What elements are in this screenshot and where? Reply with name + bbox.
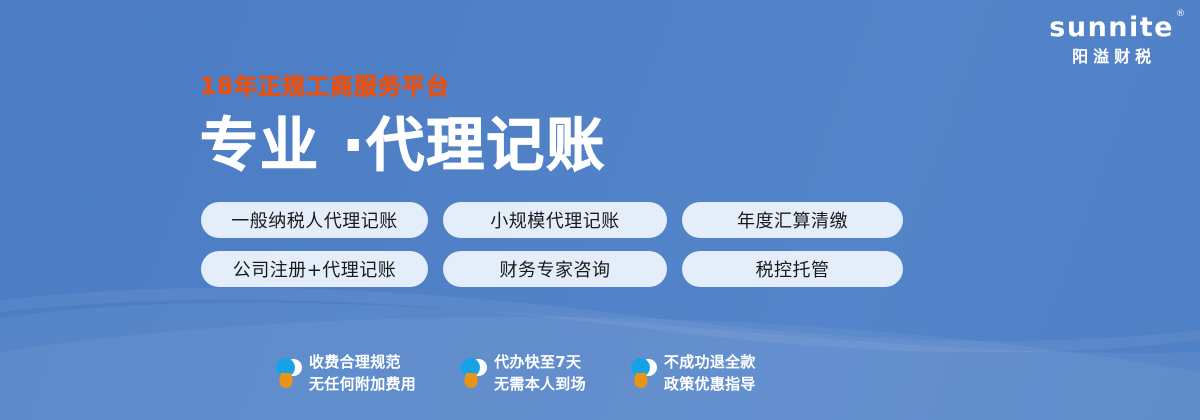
headline-block: 18年正规工商服务平台 专业 ·代理记账 [200, 76, 606, 176]
logo-wordmark-text: sunnite [1049, 12, 1174, 43]
eyebrow-text: 18年正规工商服务平台 [200, 76, 606, 99]
service-tag[interactable]: 年度汇算清缴 [682, 202, 903, 238]
feature-text: 收费合理规范 无任何附加费用 [309, 352, 416, 396]
coin-drop-icon-base [634, 373, 648, 388]
feature-line-secondary: 政策优惠指导 [664, 374, 756, 396]
feature-item: 代办快至7天 无需本人到场 [460, 352, 586, 396]
service-tag[interactable]: 公司注册+代理记账 [201, 251, 428, 287]
feature-item: 不成功退全款 政策优惠指导 [630, 352, 756, 396]
feature-item: 收费合理规范 无任何附加费用 [275, 352, 416, 396]
service-tag[interactable]: 税控托管 [682, 251, 903, 287]
feature-highlight-list: 收费合理规范 无任何附加费用 代办快至7天 无需本人到场 不成功退全款 [275, 352, 756, 396]
feature-line-secondary: 无任何附加费用 [309, 374, 416, 396]
brand-logo: sunnite ® 阳溢财税 [1049, 14, 1174, 65]
feature-text: 代办快至7天 无需本人到场 [494, 352, 586, 396]
service-tag-list: 一般纳税人代理记账 小规模代理记账 年度汇算清缴 公司注册+代理记账 财务专家咨… [201, 202, 903, 287]
registered-trademark-icon: ® [1176, 10, 1185, 19]
coin-drop-icon [275, 357, 301, 391]
promo-banner: sunnite ® 阳溢财税 18年正规工商服务平台 专业 ·代理记账 一般纳税… [0, 0, 1200, 420]
service-tag[interactable]: 小规模代理记账 [443, 202, 667, 238]
logo-wordmark: sunnite ® [1049, 14, 1174, 41]
coin-drop-icon-base [279, 373, 293, 388]
feature-line-primary: 收费合理规范 [309, 352, 416, 374]
service-tag[interactable]: 一般纳税人代理记账 [201, 202, 428, 238]
coin-drop-icon [630, 357, 656, 391]
feature-text: 不成功退全款 政策优惠指导 [664, 352, 756, 396]
page-title: 专业 ·代理记账 [200, 115, 606, 176]
feature-line-primary: 代办快至7天 [494, 352, 586, 374]
coin-drop-icon-base [464, 373, 478, 388]
service-tag[interactable]: 财务专家咨询 [443, 251, 667, 287]
feature-line-secondary: 无需本人到场 [494, 374, 586, 396]
logo-chinese-name: 阳溢财税 [1049, 49, 1174, 65]
feature-line-primary: 不成功退全款 [664, 352, 756, 374]
coin-drop-icon [460, 357, 486, 391]
